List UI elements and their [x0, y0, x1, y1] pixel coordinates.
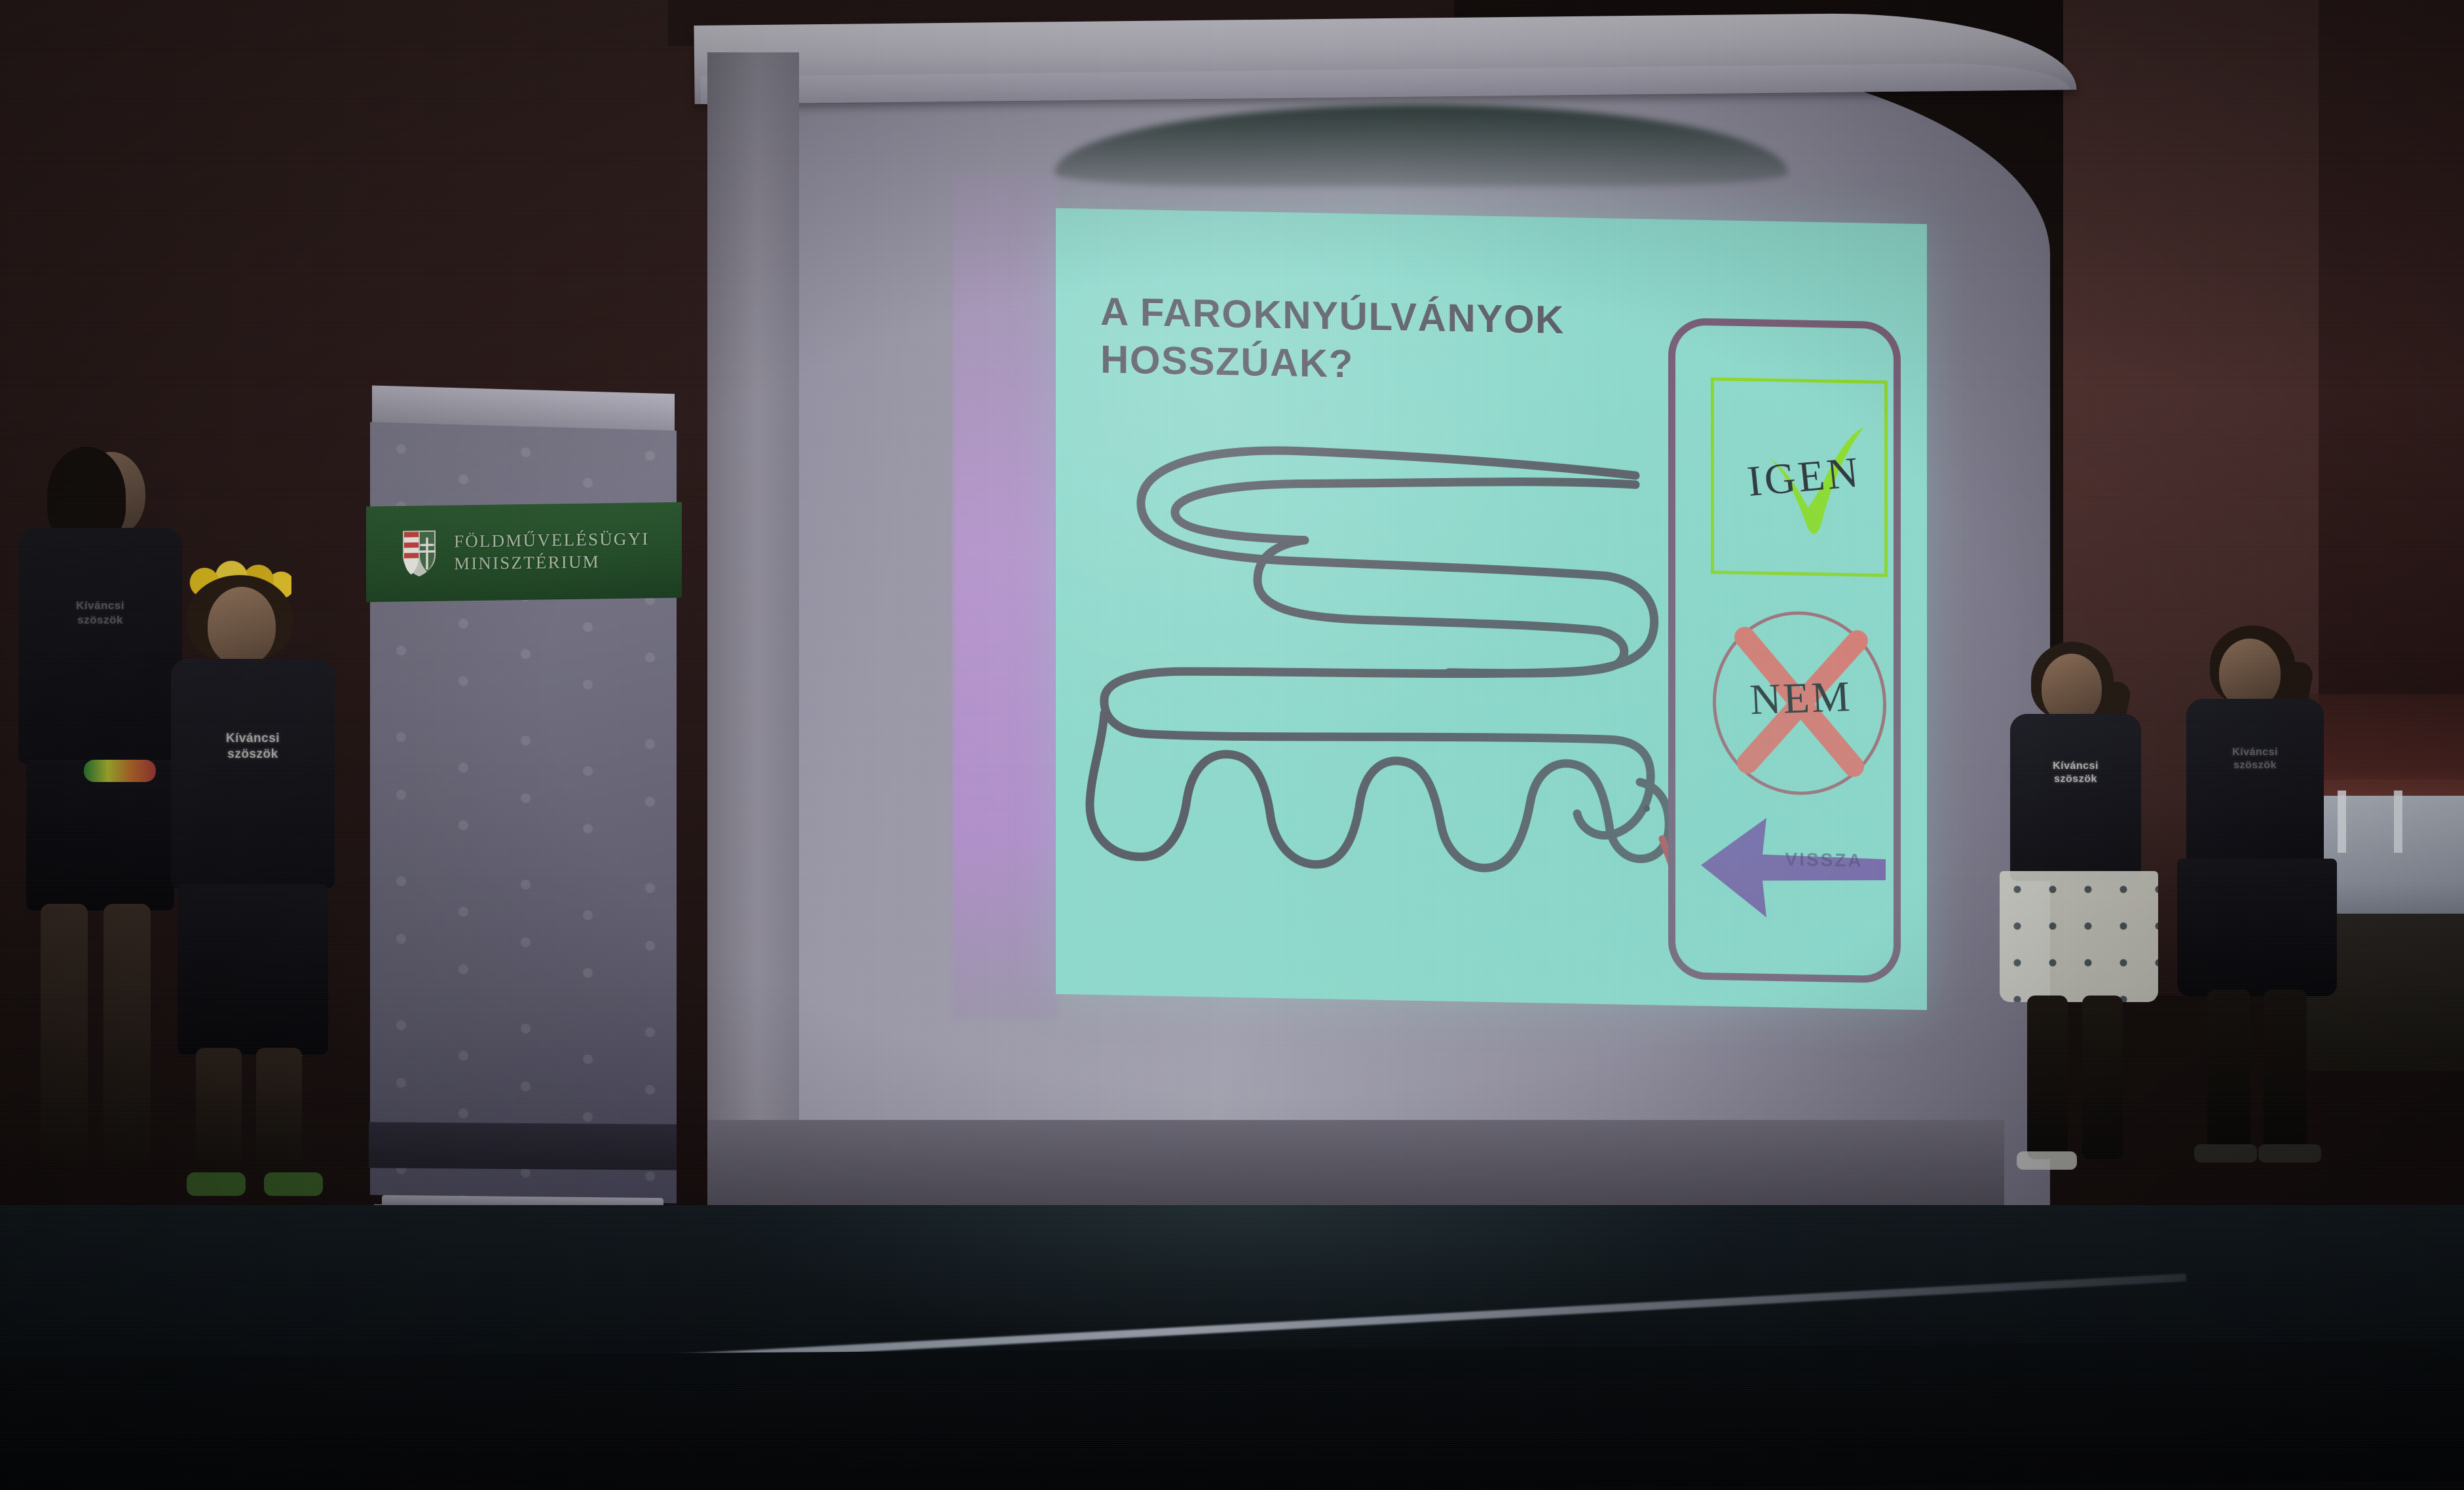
shoe-right [2258, 1144, 2321, 1163]
torso-shirt: Kíváncsi szöszök [171, 659, 335, 888]
hungarian-coat-of-arms-icon [400, 529, 438, 578]
leg-right [103, 904, 151, 1166]
banner-footer [369, 1122, 677, 1170]
shirt-line-2: szöszök [171, 747, 335, 762]
leg-right [2264, 990, 2307, 1153]
shirt-line-1: Kíváncsi [18, 599, 182, 613]
right-wall-dark [2319, 0, 2464, 779]
leg-left [2207, 990, 2250, 1153]
nem-label: NEM [1713, 671, 1889, 726]
banner-ministry-text: FÖLDMŰVELÉSÜGYI MINISZTÉRIUM [454, 529, 650, 576]
shoe-left [187, 1172, 246, 1196]
shirt-text: Kíváncsi szöszök [2010, 760, 2141, 787]
skirt [26, 760, 174, 910]
slide-title: A FAROKNYÚLVÁNYOK HOSSZÚAK? [1100, 288, 1637, 393]
table-rail [2394, 791, 2402, 853]
shirt-text: Kíváncsi szöszök [18, 599, 182, 627]
back-button-label: VISSZA [1762, 849, 1886, 872]
head [2219, 639, 2281, 708]
leg-left [2027, 996, 2068, 1159]
leg-left [41, 904, 88, 1166]
rollup-banner: FÖLDMŰVELÉSÜGYI MINISZTÉRIUM [370, 385, 678, 1258]
slide-title-line-2: HOSSZÚAK? [1100, 335, 1637, 393]
skirt [2177, 859, 2337, 996]
ministry-line-1: FÖLDMŰVELÉSÜGYI [454, 529, 650, 553]
worm-snake-drawing [1082, 405, 1691, 888]
person-far-right: Kíváncsi szöszök [2181, 625, 2332, 1189]
projector-purple-spill [953, 174, 1058, 1018]
person-left-flower-crown: Kíváncsi szöszök [167, 550, 344, 1257]
wristband [84, 760, 156, 782]
shoe-left [2017, 1151, 2077, 1170]
torso-shirt: Kíváncsi szöszök [18, 528, 182, 764]
polka-dot-skirt [2000, 871, 2158, 1002]
head [2042, 654, 2102, 723]
shoe-right [264, 1172, 323, 1196]
shirt-text: Kíváncsi szöszök [171, 731, 335, 763]
skirt [177, 884, 328, 1054]
stage-front-face [0, 1341, 2464, 1490]
leg-left [196, 1048, 242, 1179]
shirt-line-1: Kíváncsi [2010, 760, 2141, 773]
person-right: Kíváncsi szöszök [2001, 642, 2152, 1185]
leg-right [256, 1048, 302, 1179]
torso-shirt: Kíváncsi szöszök [2010, 714, 2141, 881]
shoe-left [2194, 1144, 2257, 1163]
ministry-line-2: MINISZTÉRIUM [454, 550, 650, 575]
projected-slide: A FAROKNYÚLVÁNYOK HOSSZÚAK? [1056, 208, 1927, 1010]
leg-right [2082, 996, 2123, 1159]
stage-photo-scene: A FAROKNYÚLVÁNYOK HOSSZÚAK? [0, 0, 2464, 1490]
stage-floor-glow [720, 1205, 1768, 1356]
torso-shirt: Kíváncsi szöszök [2186, 699, 2324, 869]
arch-left-pillar [707, 52, 799, 1225]
head [208, 587, 276, 665]
shirt-line-2: szöszök [18, 613, 182, 627]
shirt-line-1: Kíváncsi [171, 731, 335, 747]
shirt-line-2: szöszök [2186, 759, 2324, 772]
shirt-text: Kíváncsi szöszök [2186, 746, 2324, 773]
shirt-line-1: Kíváncsi [2186, 746, 2324, 759]
shirt-line-2: szöszök [2010, 773, 2141, 786]
table-rail [2338, 791, 2346, 853]
banner-green-band: FÖLDMŰVELÉSÜGYI MINISZTÉRIUM [366, 502, 682, 603]
